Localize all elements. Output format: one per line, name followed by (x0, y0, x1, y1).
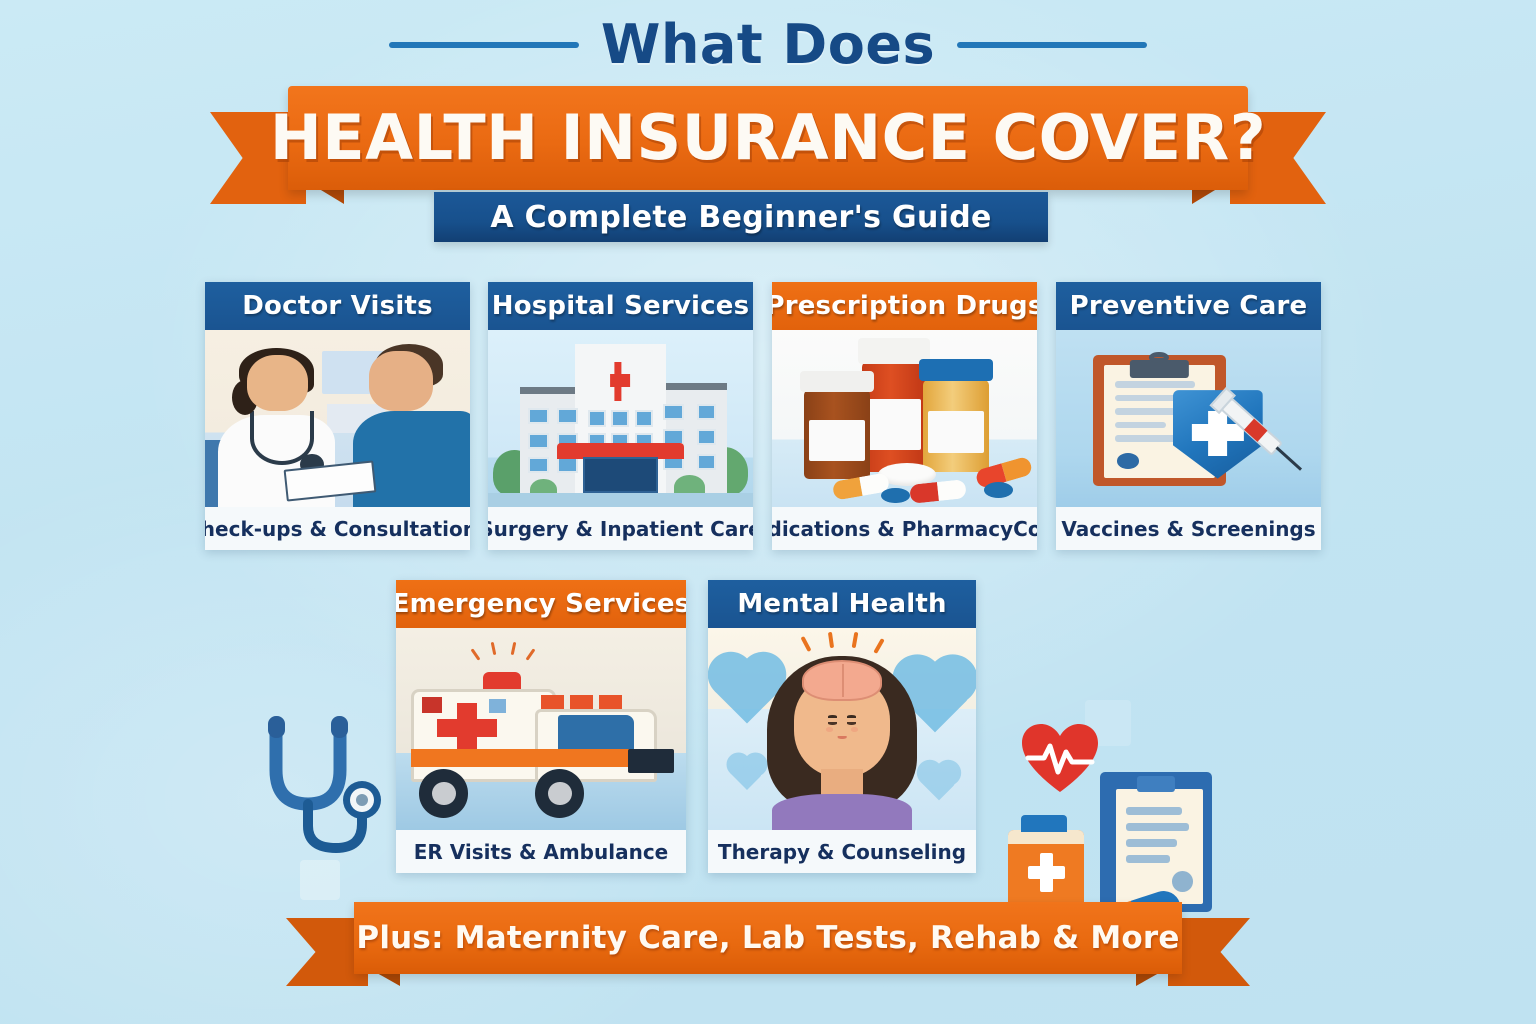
bottle-label (928, 411, 984, 453)
shirt (772, 794, 911, 830)
sparkle-ray (801, 636, 812, 652)
stamp-dot (1172, 871, 1193, 892)
card-illustration-doctor-visits (205, 330, 470, 507)
card-title-hospital-services: Hospital Services (492, 291, 750, 321)
card-header-mental-health: Mental Health (708, 580, 976, 628)
window (528, 433, 549, 449)
hospital-building-icon (488, 330, 753, 507)
siren-ray (490, 642, 496, 655)
background-shape (300, 860, 340, 900)
light-bar (570, 695, 593, 709)
window (557, 457, 578, 473)
light-bar (599, 695, 622, 709)
capsule-half (832, 477, 863, 501)
card-caption-preventive-care: Vaccines & Screenings (1056, 507, 1321, 550)
window (697, 404, 716, 420)
window (635, 410, 653, 428)
card-header-hospital-services: Hospital Services (488, 282, 753, 330)
card-title-doctor-visits: Doctor Visits (242, 291, 433, 321)
card-header-emergency-services: Emergency Services (396, 580, 686, 628)
pill-bottle-brown (804, 390, 870, 479)
card-caption-emergency-services: ER Visits & Ambulance (396, 830, 686, 873)
bottle-band (1008, 830, 1083, 843)
sparkle-ray (827, 632, 833, 648)
card-caption-text: Check-ups & Consultations (205, 517, 470, 541)
text-line (1126, 839, 1177, 847)
window (663, 404, 684, 420)
red-cross-icon (611, 374, 631, 387)
kicker-text: What Does (601, 18, 935, 72)
siren-ray (471, 649, 481, 661)
tablet-icon-blue (984, 482, 1013, 498)
side-window (489, 699, 506, 713)
window (557, 408, 578, 424)
card-caption-text: Surgery & Inpatient Care (488, 517, 753, 541)
title-ribbon: HEALTH INSURANCE COVER? (210, 86, 1326, 198)
window (611, 410, 629, 428)
card-caption-text: Vaccines & Screenings (1061, 517, 1315, 541)
text-line (1126, 807, 1182, 815)
siren-ray (526, 649, 536, 661)
card-illustration-mental-health (708, 628, 976, 830)
card-title-emergency-services: Emergency Services (396, 589, 686, 619)
window (697, 454, 716, 470)
card-caption-doctor-visits: Check-ups & Consultations (205, 507, 470, 550)
preventive-care-icon (1056, 330, 1321, 507)
window (528, 408, 549, 424)
clipboard-back (1100, 772, 1212, 912)
doctor-consultation-icon (205, 330, 470, 507)
ribbon-band: HEALTH INSURANCE COVER? (288, 86, 1248, 190)
capsule-half (1001, 455, 1033, 481)
windshield (558, 715, 633, 751)
capsule-half (909, 482, 939, 504)
card-illustration-prescription-drugs (772, 330, 1037, 507)
card-caption-text: ER Visits & Ambulance (414, 840, 668, 864)
patient-head (369, 351, 433, 411)
text-line (1115, 395, 1180, 402)
card-caption-prescription-drugs: Medications & PharmacyCosts (772, 507, 1037, 550)
syringe-needle (1276, 446, 1303, 471)
cheek-blush (851, 727, 859, 732)
doctor-head (247, 355, 308, 412)
background-shape (1085, 700, 1131, 746)
bottle-label (867, 399, 920, 449)
card-prescription-drugs[interactable]: Prescription Drugs (772, 282, 1037, 550)
page-title: HEALTH INSURANCE COVER? (270, 107, 1266, 169)
medicine-bottle-icon (1005, 815, 1087, 911)
card-caption-hospital-services: Surgery & Inpatient Care (488, 507, 753, 550)
card-caption-text: Therapy & Counseling (718, 840, 966, 864)
card-title-preventive-care: Preventive Care (1070, 291, 1308, 321)
card-header-doctor-visits: Doctor Visits (205, 282, 470, 330)
bottle-body (1008, 830, 1083, 911)
ground (488, 493, 753, 507)
card-illustration-emergency-services (396, 628, 686, 830)
mental-wellness-icon (708, 628, 976, 830)
card-illustration-hospital-services (488, 330, 753, 507)
clipboard-clip (1130, 360, 1188, 378)
white-cross-icon (1028, 866, 1065, 879)
text-line (1115, 422, 1166, 429)
window (588, 410, 606, 428)
wheel (419, 769, 468, 817)
sparkle-ray (851, 632, 858, 648)
kicker-rule-left (389, 42, 579, 48)
card-caption-mental-health: Therapy & Counseling (708, 830, 976, 873)
window (697, 429, 716, 445)
card-caption-text: Medications & PharmacyCosts (772, 517, 1037, 541)
mouth (838, 736, 847, 739)
footer-banner-text: Plus: Maternity Care, Lab Tests, Rehab &… (356, 920, 1179, 956)
bottle-cap (1021, 815, 1067, 832)
kicker-rule-right (957, 42, 1147, 48)
tablet-icon-blue (881, 488, 910, 504)
front-grill (628, 749, 674, 773)
heart-icon (730, 756, 764, 790)
card-header-prescription-drugs: Prescription Drugs (772, 282, 1037, 330)
card-header-preventive-care: Preventive Care (1056, 282, 1321, 330)
text-line (1126, 855, 1170, 863)
heart-icon (921, 764, 958, 801)
rear-marker-light (422, 697, 442, 713)
subtitle-banner: A Complete Beginner's Guide (434, 192, 1048, 242)
card-hospital-services[interactable]: Hospital Services (488, 282, 753, 550)
card-title-prescription-drugs: Prescription Drugs (772, 291, 1037, 321)
sparkle-ray (873, 638, 884, 654)
card-doctor-visits[interactable]: Doctor Visits Check-ups & Consultations (205, 282, 470, 550)
text-line (1115, 381, 1195, 388)
pill-bottle-amber (923, 380, 989, 472)
white-cross-icon (1040, 853, 1052, 891)
window (528, 457, 549, 473)
card-illustration-preventive-care (1056, 330, 1321, 507)
header: What Does HEALTH INSURANCE COVER? A Comp… (0, 0, 1536, 262)
capsule-icon (909, 479, 966, 504)
clipboard-decoration-icon (1100, 772, 1212, 912)
footer-ribbon: Plus: Maternity Care, Lab Tests, Rehab &… (286, 902, 1250, 986)
card-emergency-services[interactable]: Emergency Services ER Visits & Ambulance (396, 580, 686, 873)
brain-icon (802, 660, 882, 700)
ambulance-icon (396, 628, 686, 830)
text-line (1115, 435, 1182, 442)
page-subtitle: A Complete Beginner's Guide (490, 200, 991, 235)
bottle-cap (800, 371, 874, 392)
clipboard-ring (1149, 352, 1169, 363)
siren-ray (511, 642, 517, 655)
kicker: What Does (0, 18, 1536, 72)
wheel (535, 769, 584, 817)
eyebrow (847, 715, 857, 718)
clipboard-paper (1116, 789, 1203, 904)
medication-icon (772, 330, 1037, 507)
orange-stripe (411, 749, 643, 767)
brain-midline (842, 664, 844, 696)
red-cross-icon (437, 719, 498, 737)
capsule-half (937, 479, 967, 501)
closed-eye (847, 722, 856, 725)
bottle-label (809, 420, 865, 461)
stethoscope-decoration-icon (250, 708, 400, 878)
card-title-mental-health: Mental Health (737, 589, 946, 619)
stamp-dot (1117, 453, 1139, 469)
closed-eye (828, 722, 837, 725)
card-mental-health[interactable]: Mental Health (708, 580, 976, 873)
light-bar (541, 695, 564, 709)
ribbon-band: Plus: Maternity Care, Lab Tests, Rehab &… (354, 902, 1182, 974)
cheek-blush (826, 727, 834, 732)
card-preventive-care[interactable]: Preventive Care (1056, 282, 1321, 550)
clipboard-clip (1137, 776, 1175, 791)
text-line (1126, 823, 1189, 831)
bottle-cap (919, 359, 993, 381)
eyebrow (828, 715, 838, 718)
hospital-entrance-door (583, 457, 657, 492)
